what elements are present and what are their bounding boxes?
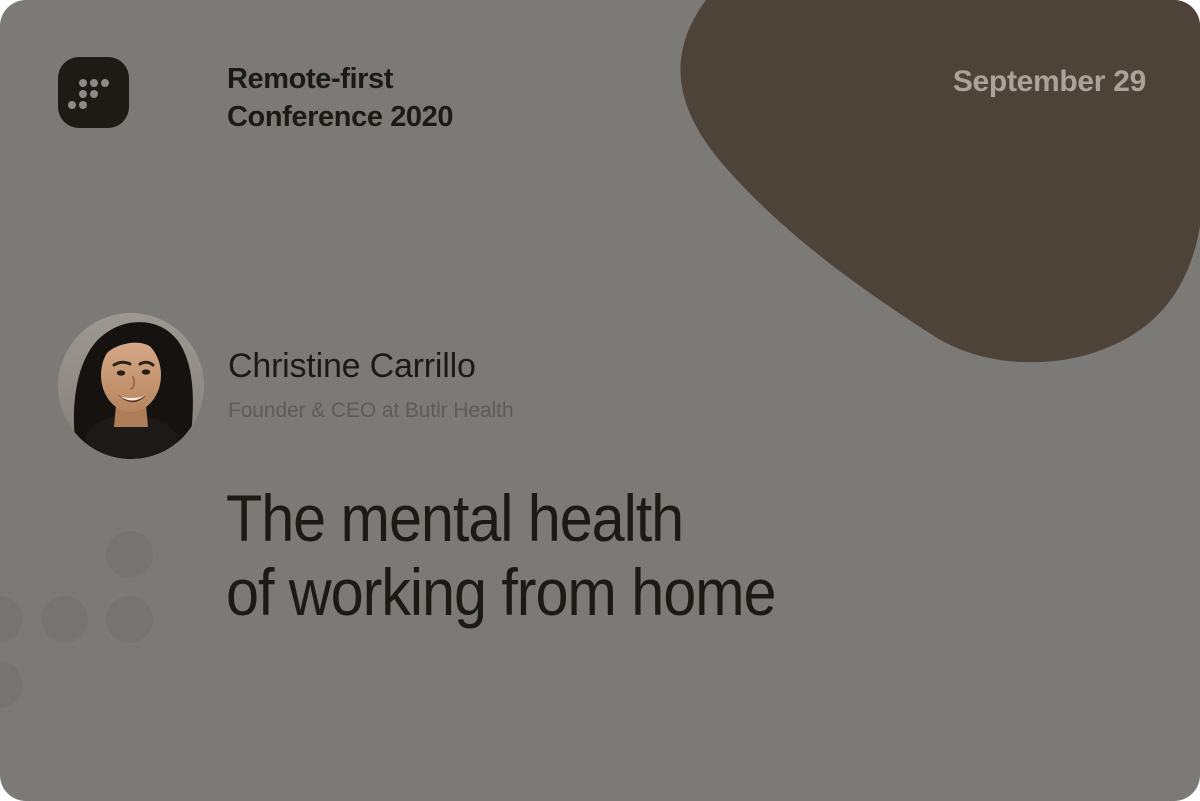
logo-dot — [68, 101, 76, 109]
speaker-name: Christine Carrillo — [228, 348, 513, 385]
speaker-role: Founder & CEO at Butlr Health — [228, 399, 513, 422]
deco-dot-1 — [106, 531, 153, 578]
deco-dot-3 — [106, 596, 153, 643]
deco-dot-2 — [41, 596, 88, 643]
deco-dot-5 — [0, 661, 23, 708]
logo-dot — [90, 90, 98, 98]
dot-grid-logo-icon[interactable] — [58, 57, 129, 128]
event-header: Remote-first Conference 2020 — [58, 57, 453, 136]
logo-dot — [90, 79, 98, 87]
logo-dot — [79, 90, 87, 98]
avatar — [58, 313, 204, 459]
speaker-portrait — [58, 313, 204, 459]
event-title: Remote-first Conference 2020 — [227, 57, 453, 136]
event-date: September 29 — [953, 65, 1146, 99]
deco-dot-4 — [0, 596, 23, 643]
speaker-text: Christine Carrillo Founder & CEO at Butl… — [228, 348, 513, 423]
talk-headline: The mental health of working from home — [226, 482, 776, 630]
logo-dot — [101, 79, 109, 87]
speaker-block: Christine Carrillo Founder & CEO at Butl… — [58, 313, 513, 459]
logo-dot — [79, 101, 87, 109]
conference-speaker-card: Remote-first Conference 2020 September 2… — [0, 0, 1200, 801]
logo-dot — [79, 79, 87, 87]
